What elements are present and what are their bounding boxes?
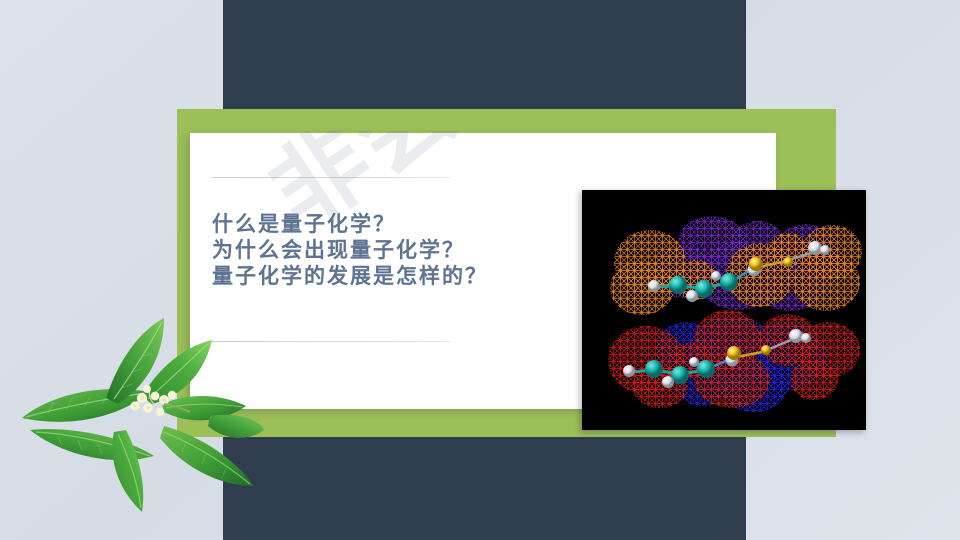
divider-top [212,177,450,178]
slide-canvas: 什么是量子化学？ 为什么会出现量子化学？ 量子化学的发展是怎样的？ [0,0,960,540]
molecular-orbital-image [582,190,866,430]
divider-bottom [212,341,450,342]
